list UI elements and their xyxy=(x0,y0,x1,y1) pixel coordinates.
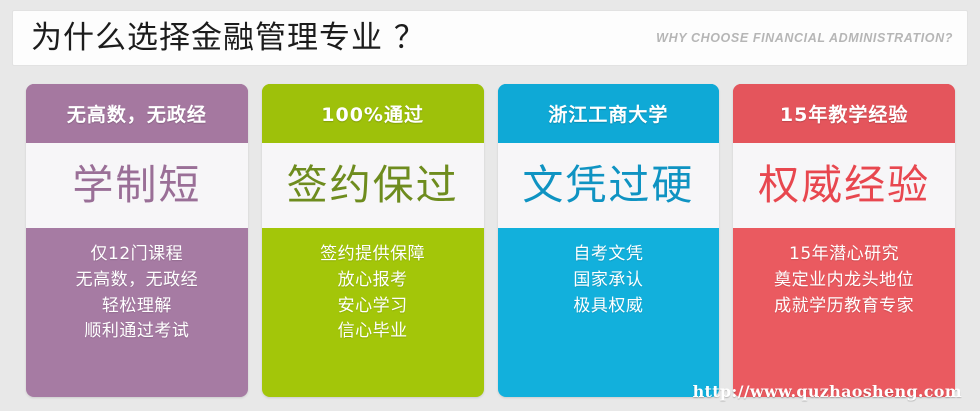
card-4-bullet-3: 成就学历教育专家 xyxy=(733,294,955,320)
card-1-header: 无高数，无政经 xyxy=(26,84,248,143)
card-1-banner-text: 学制短 xyxy=(72,165,201,206)
feature-card-2[interactable]: 100%通过 签约保过 签约提供保障 放心报考 安心学习 信心毕业 xyxy=(262,84,484,397)
card-1-bullet-4: 顺利通过考试 xyxy=(26,319,248,345)
feature-card-3[interactable]: 浙江工商大学 文凭过硬 自考文凭 国家承认 极具权威 xyxy=(498,84,720,397)
card-1-banner: 学制短 xyxy=(26,143,248,228)
card-4-bullet-1: 15年潜心研究 xyxy=(733,242,955,268)
card-4-header: 15年教学经验 xyxy=(733,84,955,143)
page-header-bar: 为什么选择金融管理专业 ？ WHY CHOOSE FINANCIAL ADMIN… xyxy=(12,10,968,66)
card-3-header: 浙江工商大学 xyxy=(498,84,720,143)
card-2-bullet-3: 安心学习 xyxy=(262,294,484,320)
site-watermark: http://www.quzhaosheng.com xyxy=(693,382,962,401)
card-2-bullet-2: 放心报考 xyxy=(262,268,484,294)
card-2-body: 签约提供保障 放心报考 安心学习 信心毕业 xyxy=(262,228,484,397)
card-3-bullet-2: 国家承认 xyxy=(498,268,720,294)
card-4-banner: 权威经验 xyxy=(733,143,955,228)
feature-card-4[interactable]: 15年教学经验 权威经验 15年潜心研究 奠定业内龙头地位 成就学历教育专家 xyxy=(733,84,955,397)
card-4-banner-text: 权威经验 xyxy=(758,165,930,206)
card-1-bullet-2: 无高数，无政经 xyxy=(26,268,248,294)
card-4-bullet-2: 奠定业内龙头地位 xyxy=(733,268,955,294)
card-1-body: 仅12门课程 无高数，无政经 轻松理解 顺利通过考试 xyxy=(26,228,248,397)
card-1-bullet-1: 仅12门课程 xyxy=(26,242,248,268)
card-3-bullet-1: 自考文凭 xyxy=(498,242,720,268)
card-3-body: 自考文凭 国家承认 极具权威 xyxy=(498,228,720,397)
card-1-bullet-3: 轻松理解 xyxy=(26,294,248,320)
card-3-banner: 文凭过硬 xyxy=(498,143,720,228)
page-title: 为什么选择金融管理专业 ？ xyxy=(31,23,426,54)
feature-card-row: 无高数，无政经 学制短 仅12门课程 无高数，无政经 轻松理解 顺利通过考试 1… xyxy=(26,84,955,397)
card-2-bullet-4: 信心毕业 xyxy=(262,319,484,345)
card-2-banner: 签约保过 xyxy=(262,143,484,228)
card-2-bullet-1: 签约提供保障 xyxy=(262,242,484,268)
card-3-banner-text: 文凭过硬 xyxy=(522,165,694,206)
card-3-bullet-3: 极具权威 xyxy=(498,294,720,320)
card-2-banner-text: 签约保过 xyxy=(287,165,459,206)
card-2-header: 100%通过 xyxy=(262,84,484,143)
card-4-body: 15年潜心研究 奠定业内龙头地位 成就学历教育专家 xyxy=(733,228,955,397)
feature-card-1[interactable]: 无高数，无政经 学制短 仅12门课程 无高数，无政经 轻松理解 顺利通过考试 xyxy=(26,84,248,397)
page-subtitle: WHY CHOOSE FINANCIAL ADMINISTRATION? xyxy=(656,31,953,45)
